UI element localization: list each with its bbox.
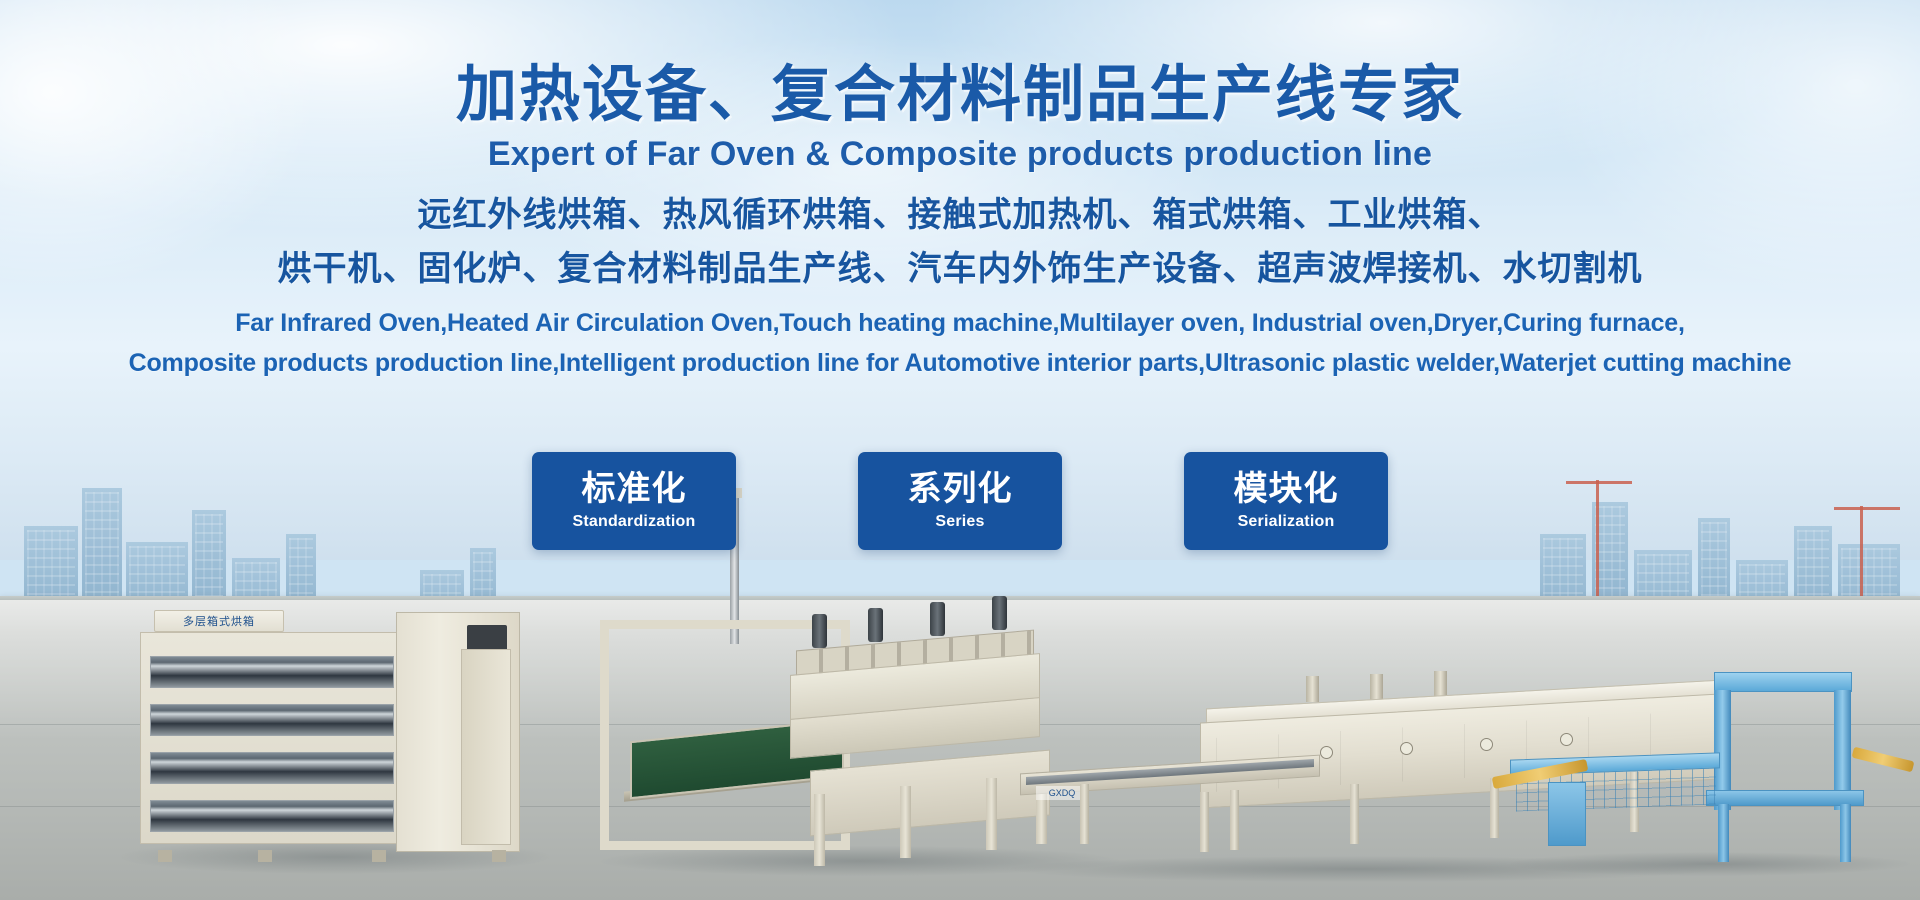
gauge-dial (1480, 738, 1493, 751)
oven-nameplate: 多层箱式烘箱 (154, 610, 284, 632)
badge-label-chinese: 系列化 (908, 471, 1013, 508)
machine-foot (372, 850, 386, 862)
machine-foot (158, 850, 172, 862)
machine-foot (492, 850, 506, 862)
machine-leg (1200, 792, 1209, 852)
feature-badges: 标准化 Standardization 系列化 Series 模块化 Seria… (0, 452, 1920, 550)
machine-leg (1840, 804, 1851, 862)
machine-leg (1350, 784, 1359, 844)
oven-shelf (150, 800, 394, 832)
machine-leg (1080, 784, 1089, 844)
gantry-beam (1714, 672, 1852, 692)
exhaust-stack (1370, 674, 1383, 700)
hydraulic-cylinder (992, 596, 1007, 630)
exhaust-stack (1434, 671, 1447, 697)
control-display-panel (467, 625, 507, 651)
oven-shelf (150, 704, 394, 736)
exhaust-stack (1306, 676, 1319, 702)
machine-leg (1718, 804, 1729, 862)
multilayer-oven-machine: 多层箱式烘箱 1 2 3 4 (140, 612, 520, 852)
oven-shelf (150, 752, 394, 784)
machine-leg (900, 786, 911, 858)
promotional-banner: 多层箱式烘箱 1 2 3 4 (0, 0, 1920, 900)
badge-series[interactable]: 系列化 Series (858, 452, 1062, 550)
product-list-chinese-line1: 远红外线烘箱、热风循环烘箱、接触式加热机、箱式烘箱、工业烘箱、 (0, 191, 1920, 241)
automated-robot-cell-machine (1500, 672, 1920, 872)
banner-copy: 加热设备、复合材料制品生产线专家 Expert of Far Oven & Co… (0, 0, 1920, 382)
robot-arm (1852, 747, 1915, 773)
machine-leg (986, 778, 997, 850)
badge-label-chinese: 模块化 (1234, 471, 1339, 508)
gauge-dial (1320, 746, 1333, 759)
badge-label-english: Serialization (1238, 513, 1335, 531)
hydraulic-cylinder (930, 602, 945, 636)
machine-leg (1230, 790, 1239, 850)
badge-label-chinese: 标准化 (582, 471, 687, 508)
hydraulic-cylinder (868, 608, 883, 642)
product-list-english-line1: Far Infrared Oven,Heated Air Circulation… (0, 305, 1920, 343)
product-list-english-line2: Composite products production line,Intel… (0, 345, 1920, 383)
machine-leg (814, 794, 825, 866)
machine-foot (258, 850, 272, 862)
product-list-chinese-line2: 烘干机、固化炉、复合材料制品生产线、汽车内外饰生产设备、超声波焊接机、水切割机 (0, 245, 1920, 295)
cabinet-door (461, 649, 511, 845)
badge-label-english: Standardization (572, 513, 695, 531)
headline-english: Expert of Far Oven & Composite products … (0, 135, 1920, 174)
badge-serialization[interactable]: 模块化 Serialization (1184, 452, 1388, 550)
headline-chinese: 加热设备、复合材料制品生产线专家 (0, 62, 1920, 126)
hydraulic-cylinder (812, 614, 827, 648)
badge-label-english: Series (935, 513, 984, 531)
control-cabinet (396, 612, 520, 852)
gauge-dial (1400, 742, 1413, 755)
badge-standardization[interactable]: 标准化 Standardization (532, 452, 736, 550)
blue-control-cabinet (1548, 782, 1586, 846)
oven-shelf (150, 656, 394, 688)
